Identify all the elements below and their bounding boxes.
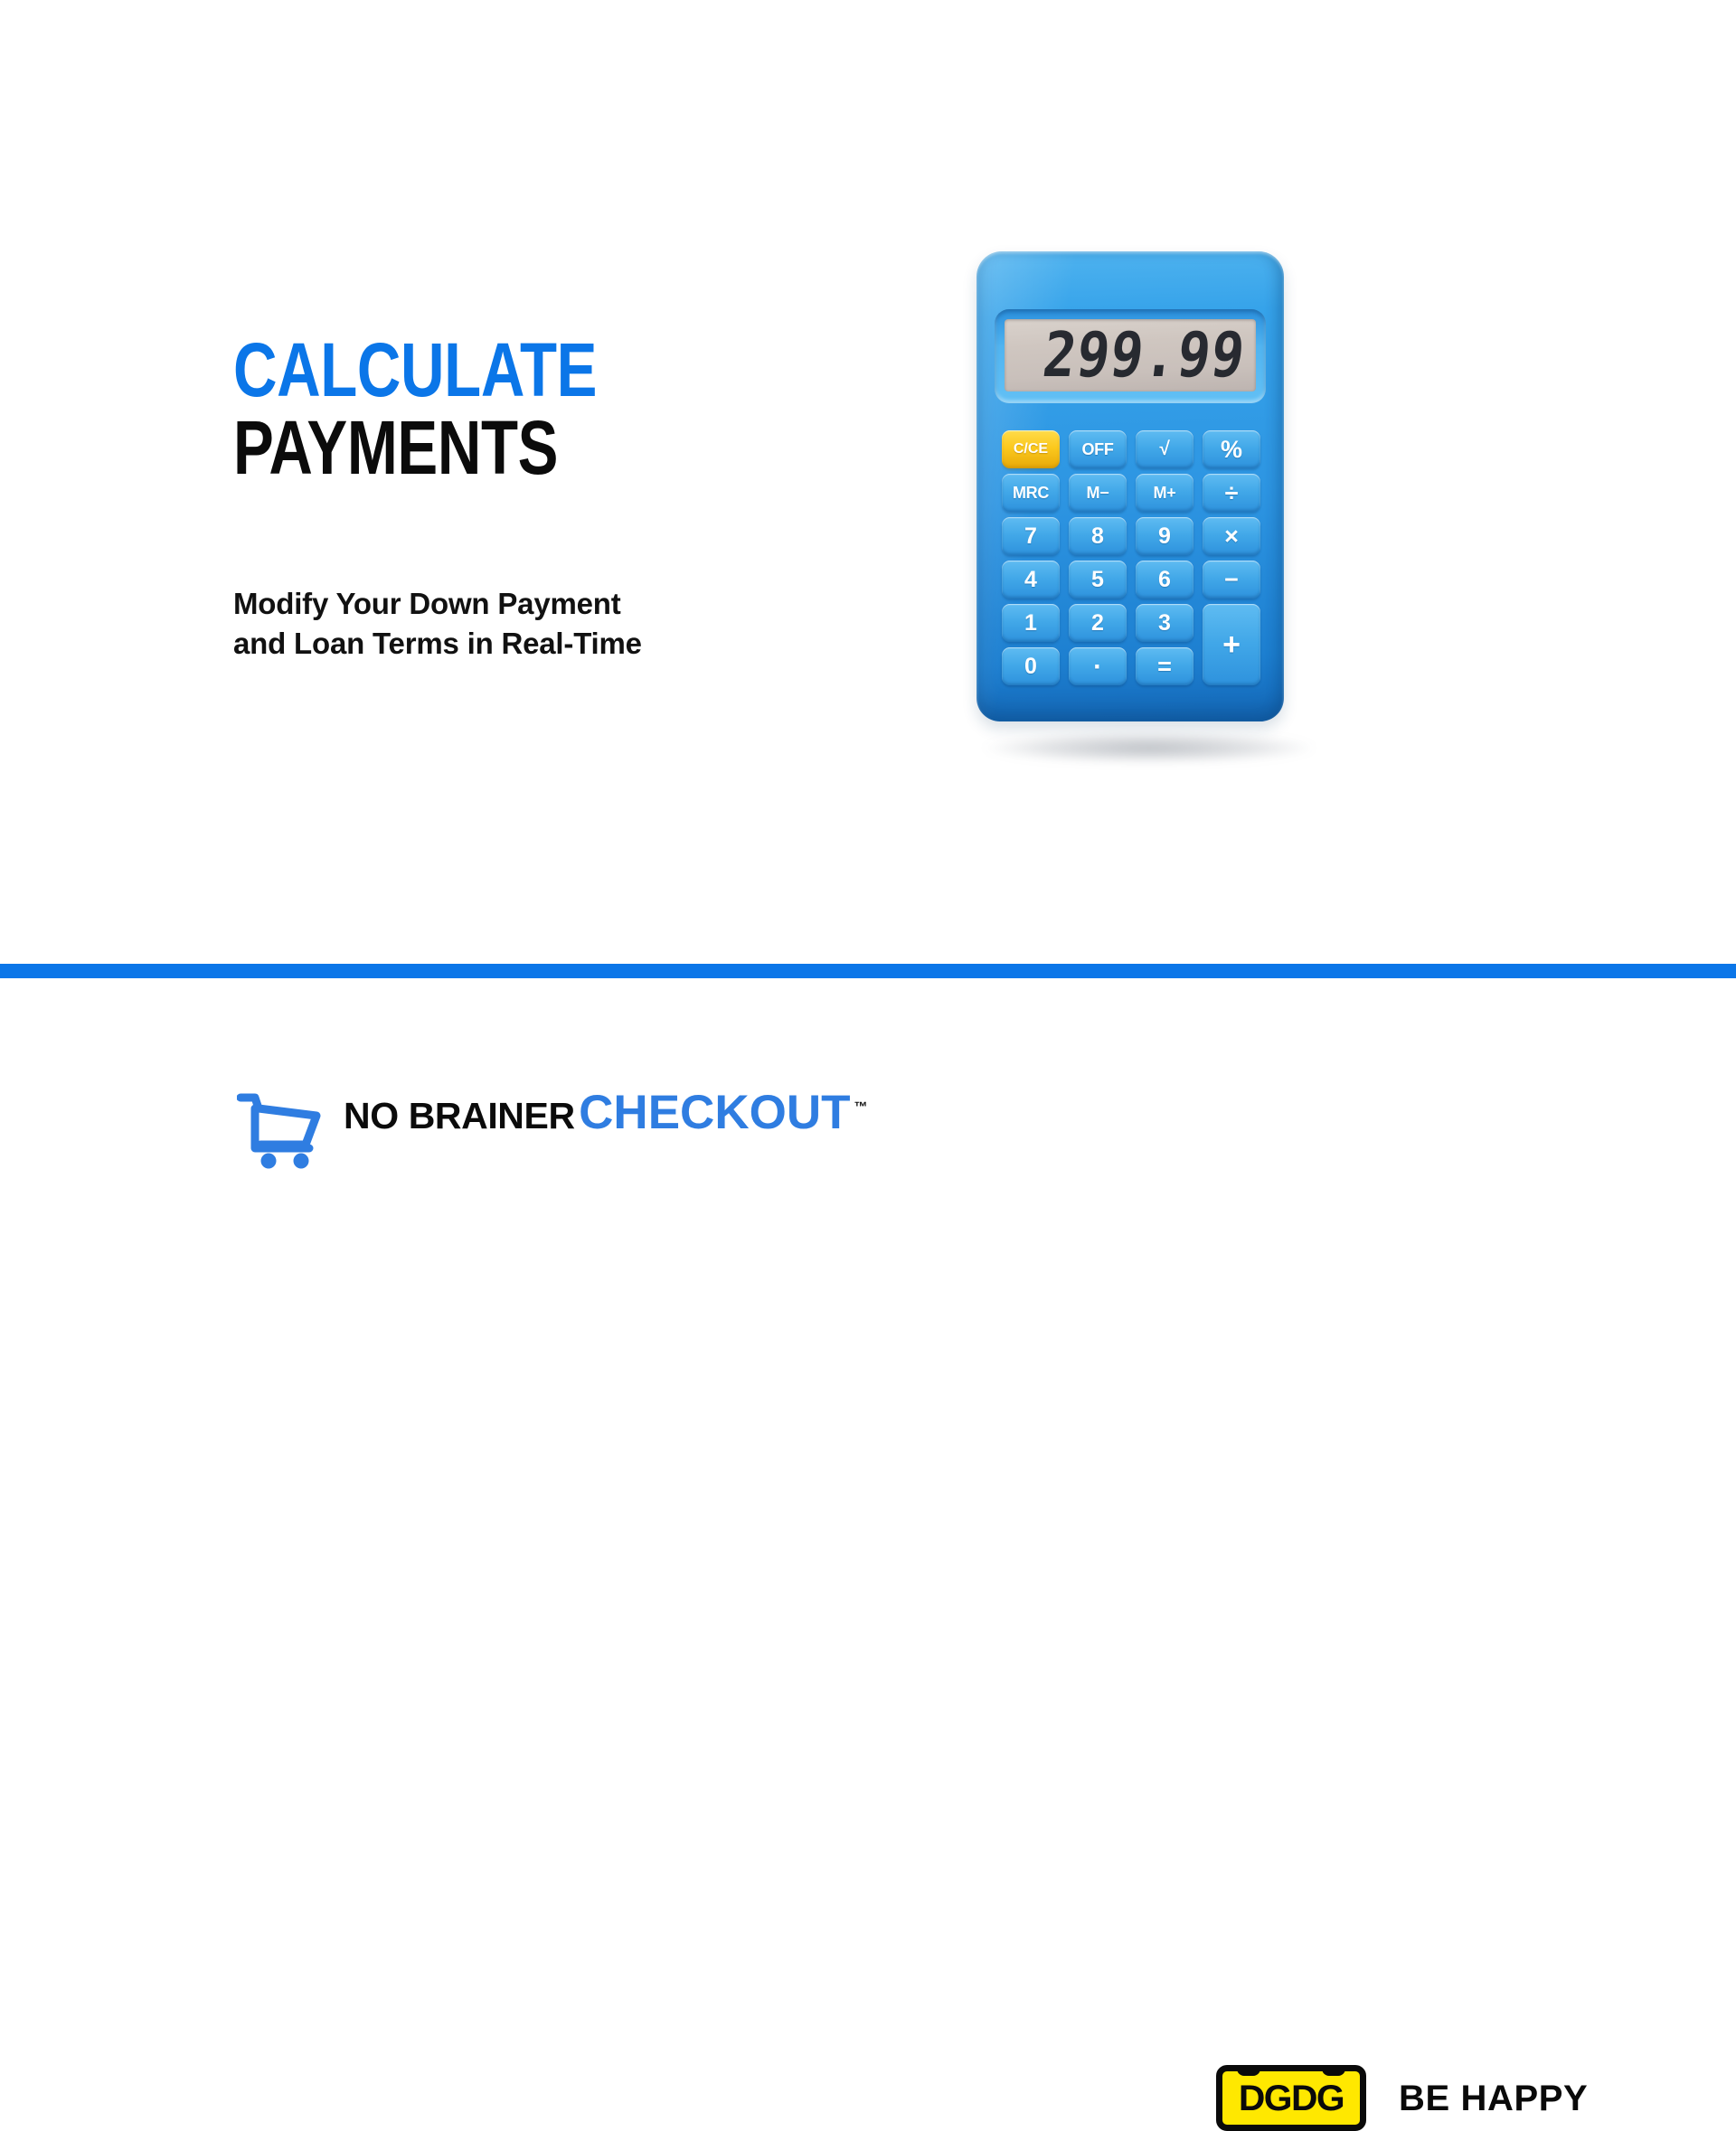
calc-key-multiply[interactable]: × — [1203, 517, 1260, 555]
calculator-screen-bezel: 299.99 — [995, 309, 1266, 403]
dgdg-plate-text: DGDG — [1239, 2080, 1344, 2117]
calc-key-label: 4 — [1024, 567, 1037, 593]
calc-key-label: 7 — [1024, 523, 1037, 550]
calc-key-digit-7[interactable]: 7 — [1002, 517, 1060, 555]
dgdg-license-plate: DGDG — [1216, 2065, 1366, 2131]
calc-key-label: 3 — [1158, 610, 1171, 636]
calc-key-label: √ — [1159, 438, 1169, 460]
brand-line-2: CHECKOUT™ — [579, 1086, 867, 1139]
dgdg-dealer-logo[interactable]: DGDG BE HAPPY — [1216, 2065, 1588, 2131]
calc-key-equals[interactable]: = — [1136, 647, 1193, 685]
calc-key-label: 8 — [1091, 523, 1104, 550]
calculator-drop-shadow — [984, 732, 1315, 763]
calc-key-label: 6 — [1158, 567, 1171, 593]
calc-key-digit-6[interactable]: 6 — [1136, 561, 1193, 599]
calc-key-label: ÷ — [1225, 479, 1239, 507]
brand-wordmark: NO BRAINER CHECKOUT™ — [344, 1089, 867, 1136]
calc-key-decimal-point[interactable]: · — [1069, 647, 1127, 685]
hero-section: CALCULATE PAYMENTS Modify Your Down Paym… — [0, 0, 1736, 964]
no-brainer-checkout-logo[interactable]: NO BRAINER CHECKOUT™ — [237, 1089, 867, 1174]
calc-key-divide[interactable]: ÷ — [1203, 474, 1260, 512]
calc-key-label: M+ — [1154, 484, 1176, 503]
trademark-symbol: ™ — [854, 1099, 867, 1115]
calc-key-digit-4[interactable]: 4 — [1002, 561, 1060, 599]
calc-key-label: 0 — [1024, 654, 1037, 680]
calc-key-label: · — [1093, 663, 1102, 671]
calc-key-label: 1 — [1024, 610, 1037, 636]
calc-key-label: 5 — [1091, 567, 1104, 593]
calc-key-digit-8[interactable]: 8 — [1069, 517, 1127, 555]
calc-key-label: C/CE — [1014, 441, 1048, 457]
calc-key-clear-entry[interactable]: C/CE — [1002, 430, 1060, 468]
calc-key-square-root[interactable]: √ — [1136, 430, 1193, 468]
calc-key-digit-5[interactable]: 5 — [1069, 561, 1127, 599]
calc-key-label: × — [1224, 523, 1239, 551]
dgdg-tagline: BE HAPPY — [1399, 2080, 1588, 2117]
brand-line-1: NO BRAINER — [344, 1095, 575, 1136]
brand-checkout-text: CHECKOUT — [579, 1086, 850, 1139]
headline-line-2: PAYMENTS — [233, 410, 740, 485]
calc-key-digit-0[interactable]: 0 — [1002, 647, 1060, 685]
calc-key-subtract[interactable]: − — [1203, 561, 1260, 599]
calc-key-label: = — [1157, 653, 1172, 681]
headline-line-1: CALCULATE — [233, 333, 740, 407]
calc-key-label: + — [1222, 627, 1241, 663]
hero-copy-block: CALCULATE PAYMENTS Modify Your Down Paym… — [233, 333, 866, 486]
calculator-body: 299.99 C/CEOFF√%MRCM−M+÷789×456−123+0·= — [976, 251, 1284, 721]
footer-section: NO BRAINER CHECKOUT™ DGDG BE HAPPY — [0, 978, 1736, 1302]
calc-key-memory-recall-clear[interactable]: MRC — [1002, 474, 1060, 512]
hero-subcopy: Modify Your Down Payment and Loan Terms … — [233, 584, 794, 664]
calc-key-label: 2 — [1091, 610, 1104, 636]
lcd-display-value: 299.99 — [1040, 325, 1249, 386]
shopping-cart-icon — [237, 1092, 324, 1174]
calc-key-add[interactable]: + — [1203, 604, 1260, 685]
calculator-keypad[interactable]: C/CEOFF√%MRCM−M+÷789×456−123+0·= — [1002, 430, 1262, 694]
section-divider-bar — [0, 964, 1736, 978]
calc-key-label: MRC — [1013, 484, 1049, 503]
calc-key-digit-1[interactable]: 1 — [1002, 604, 1060, 642]
calc-key-memory-plus[interactable]: M+ — [1136, 474, 1193, 512]
calc-key-label: − — [1224, 566, 1239, 594]
calc-key-digit-9[interactable]: 9 — [1136, 517, 1193, 555]
calc-key-digit-2[interactable]: 2 — [1069, 604, 1127, 642]
calc-key-memory-minus[interactable]: M− — [1069, 474, 1127, 512]
subcopy-line-1: Modify Your Down Payment — [233, 584, 794, 624]
calc-key-label: 9 — [1158, 523, 1171, 550]
calc-key-label: OFF — [1081, 440, 1113, 459]
calc-key-off[interactable]: OFF — [1069, 430, 1127, 468]
calc-key-digit-3[interactable]: 3 — [1136, 604, 1193, 642]
subcopy-line-2: and Loan Terms in Real-Time — [233, 624, 794, 664]
calculator-illustration: 299.99 C/CEOFF√%MRCM−M+÷789×456−123+0·= — [967, 251, 1329, 758]
calc-key-label: % — [1221, 436, 1242, 464]
calc-key-label: M− — [1087, 484, 1109, 503]
page-title: CALCULATE PAYMENTS — [233, 333, 740, 486]
calc-key-percent[interactable]: % — [1203, 430, 1260, 468]
calculator-lcd-screen: 299.99 — [1005, 319, 1256, 391]
